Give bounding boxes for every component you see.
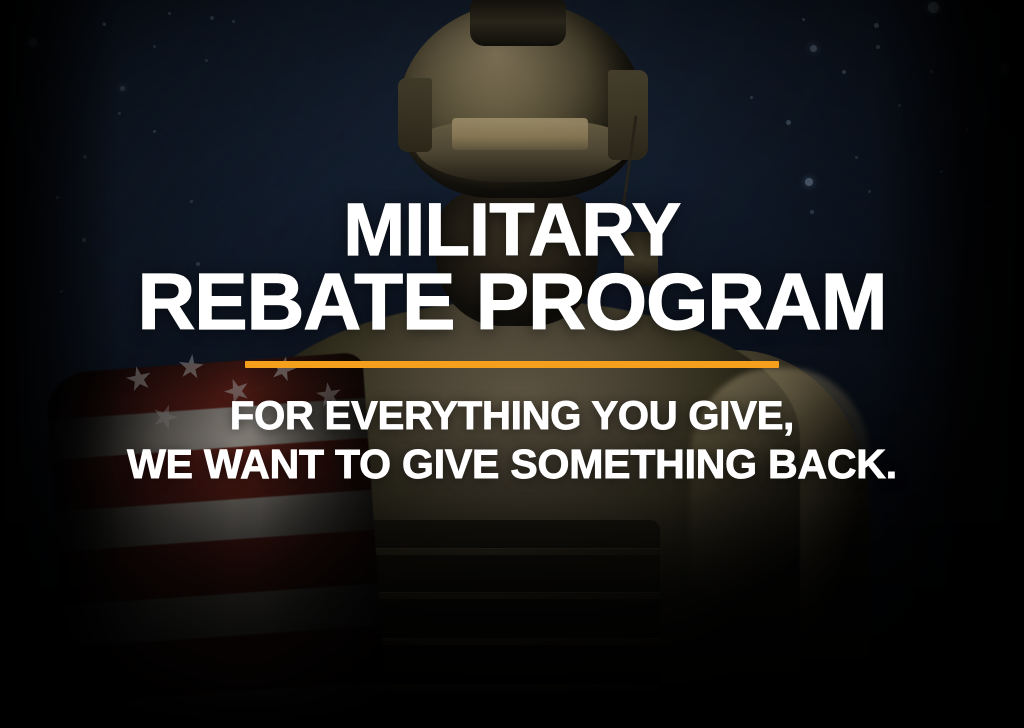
accent-divider <box>245 361 779 368</box>
page-title: MILITARY REBATE PROGRAM <box>138 196 887 339</box>
military-rebate-banner: MILITARY REBATE PROGRAM FOR EVERYTHING Y… <box>0 0 1024 728</box>
subtitle-line-1: FOR EVERYTHING YOU GIVE, <box>127 392 897 440</box>
headline-line-1: MILITARY <box>138 196 887 265</box>
text-overlay: MILITARY REBATE PROGRAM FOR EVERYTHING Y… <box>0 0 1024 728</box>
subtitle: FOR EVERYTHING YOU GIVE, WE WANT TO GIVE… <box>127 392 897 489</box>
headline-line-2: REBATE PROGRAM <box>138 265 887 339</box>
subtitle-line-2: WE WANT TO GIVE SOMETHING BACK. <box>127 440 897 489</box>
